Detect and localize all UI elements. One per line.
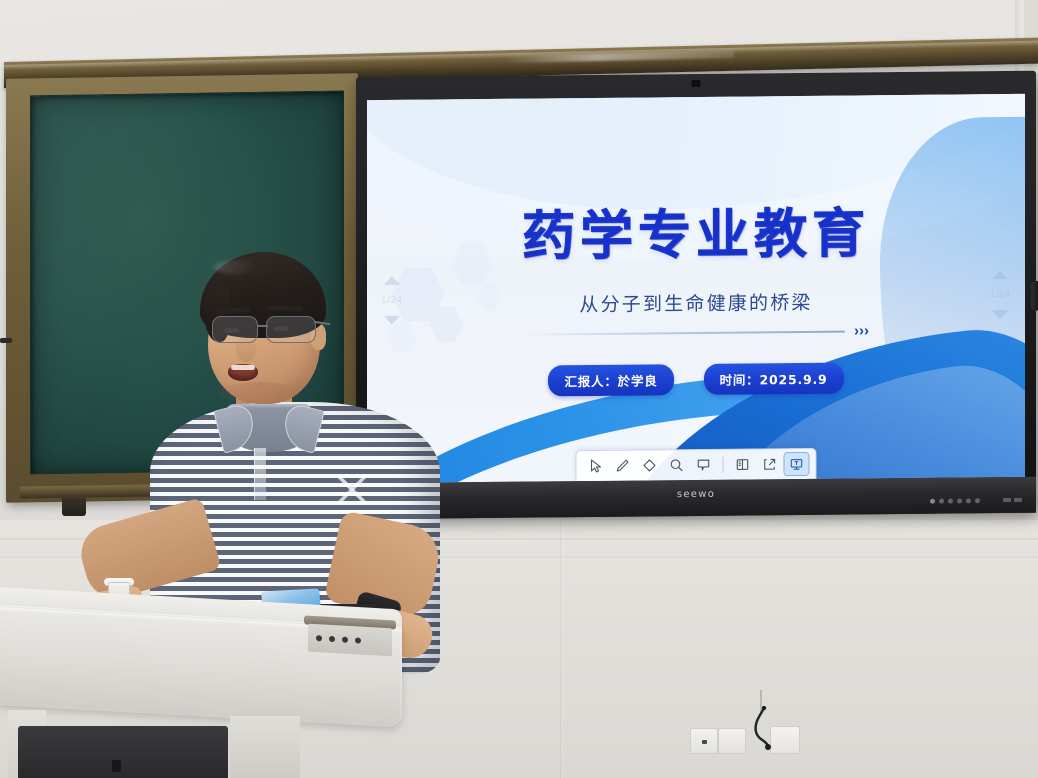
presenter-badge: 汇报人：於学良 <box>548 364 673 396</box>
pen-icon[interactable] <box>611 455 635 477</box>
chalkboard-bracket <box>62 498 86 516</box>
prev-page-icon[interactable] <box>992 270 1008 279</box>
spotlight-icon[interactable] <box>692 454 716 476</box>
slide-content: 药学专业教育 从分子到生命健康的桥梁 ››› 汇报人：於学良 时间：2025.9… <box>367 94 1025 483</box>
usb-port[interactable] <box>1003 498 1011 502</box>
nose <box>236 336 256 362</box>
display-indicator-lights <box>930 498 980 503</box>
shirt-placket <box>254 448 266 500</box>
display-bottom-bezel: seewo <box>356 477 1036 520</box>
wall-switch-right[interactable] <box>718 728 746 754</box>
chevron-right-icon: ››› <box>854 323 869 338</box>
hanging-cable <box>746 706 786 754</box>
chin-shadow <box>220 382 300 404</box>
control-button[interactable] <box>329 636 335 642</box>
control-button[interactable] <box>355 637 361 643</box>
port-dot <box>957 498 962 503</box>
cursor-icon[interactable] <box>584 455 608 477</box>
lectern-cabinet[interactable] <box>18 726 228 778</box>
eraser-icon[interactable] <box>638 454 662 476</box>
display-side-button[interactable] <box>1031 281 1038 311</box>
port-dot <box>975 498 980 503</box>
slide-divider-row: ››› <box>523 323 869 341</box>
classroom-scene: 药学专业教育 从分子到生命健康的桥梁 ››› 汇报人：於学良 时间：2025.9… <box>0 0 1038 778</box>
exit-presentation-icon[interactable] <box>785 453 809 475</box>
control-button[interactable] <box>342 637 348 643</box>
mouth <box>228 364 258 381</box>
wall-switch-left[interactable] <box>690 728 718 754</box>
page-nav-right[interactable]: 1/24 <box>990 270 1011 319</box>
magnifier-icon[interactable] <box>665 454 689 476</box>
wall-vertical-seam <box>560 520 563 778</box>
display-screen[interactable]: 药学专业教育 从分子到生命健康的桥梁 ››› 汇报人：於学良 时间：2025.9… <box>367 94 1025 483</box>
seewo-interactive-panel[interactable]: 药学专业教育 从分子到生命健康的桥梁 ››› 汇报人：於学良 时间：2025.9… <box>356 71 1036 520</box>
divider-line <box>523 330 845 335</box>
lectern-control-panel[interactable] <box>308 624 392 657</box>
seewo-logo: seewo <box>677 489 715 500</box>
slide-badge-row: 汇报人：於学良 时间：2025.9.9 <box>548 363 843 397</box>
port-dot <box>939 499 944 504</box>
page-indicator-right: 1/24 <box>990 289 1011 300</box>
hair-highlight <box>214 260 258 274</box>
shirt-emblem <box>336 474 368 504</box>
eyeglasses <box>210 316 326 346</box>
next-page-icon[interactable] <box>992 310 1008 319</box>
slide-subtitle: 从分子到生命健康的桥梁 <box>579 288 812 317</box>
port-dot <box>948 499 953 504</box>
share-icon[interactable] <box>758 453 782 475</box>
ir-sensor <box>692 80 701 87</box>
presentation-ink-toolbar[interactable] <box>576 448 817 481</box>
usb-port[interactable] <box>1014 498 1022 502</box>
power-led <box>930 499 935 504</box>
slide-title: 药学专业教育 <box>522 191 870 270</box>
notes-panel-icon[interactable] <box>731 453 755 475</box>
control-button[interactable] <box>316 635 322 641</box>
lectern-leg-right <box>230 716 300 778</box>
date-badge: 时间：2025.9.9 <box>704 363 844 395</box>
cabinet-handle[interactable] <box>112 760 121 772</box>
glasses-bridge <box>257 325 268 327</box>
toolbar-separator <box>723 457 724 473</box>
shirt-collar <box>226 404 312 452</box>
glasses-temple <box>314 321 330 325</box>
lectern <box>0 598 410 778</box>
display-usb-ports[interactable] <box>1003 498 1022 502</box>
wall-cable-stub <box>0 338 12 343</box>
presentation-slide[interactable]: 药学专业教育 从分子到生命健康的桥梁 ››› 汇报人：於学良 时间：2025.9… <box>367 94 1025 483</box>
port-dot <box>966 498 971 503</box>
lens-right <box>266 316 316 343</box>
